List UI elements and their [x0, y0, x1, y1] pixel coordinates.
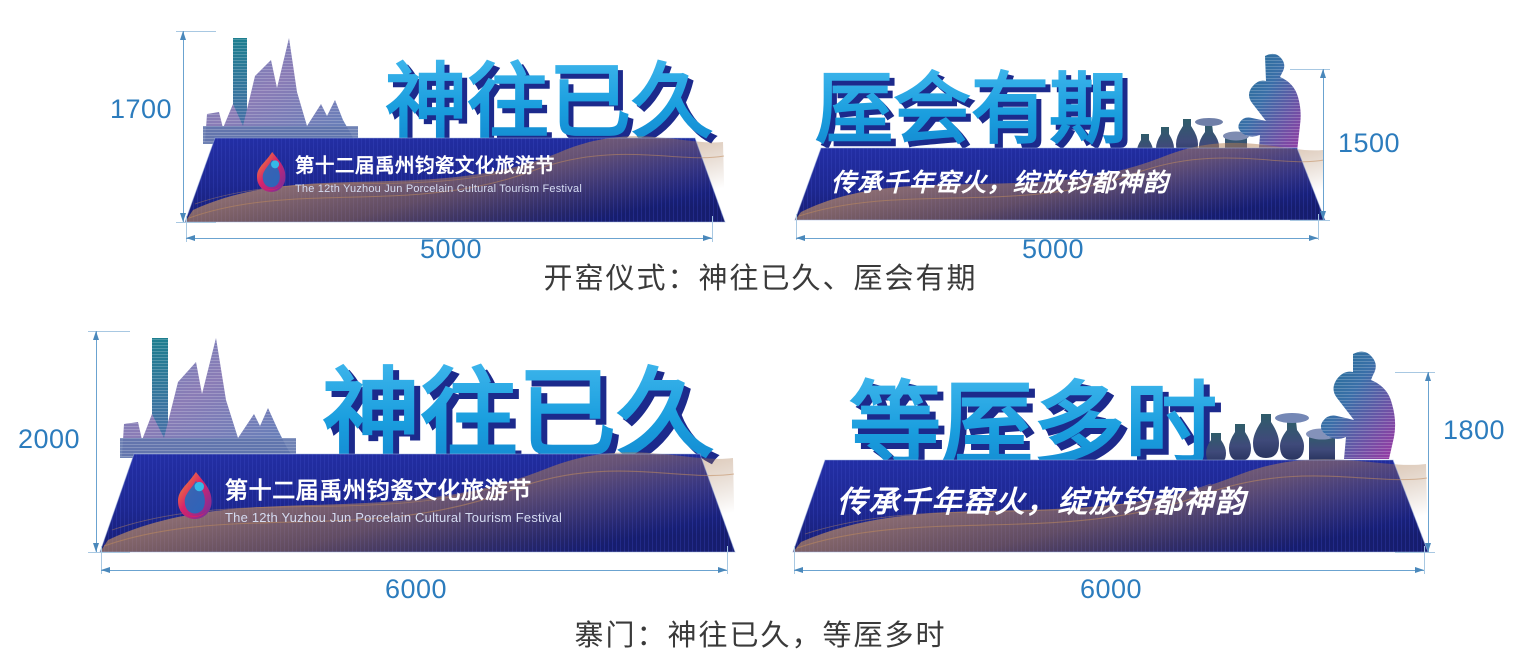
- panel-top-left: 神往已久 神往已久 第十二: [185, 30, 725, 225]
- dim-arrow-right-5000b: [1309, 235, 1318, 241]
- panel-bottom-left: 神往已久 神往已久 第十二届禹州钧瓷文化旅游节 The 12th Yuzhou …: [100, 330, 735, 555]
- dim-label-6000a: 6000: [385, 574, 447, 605]
- headline-face: 厔会有期: [815, 65, 1127, 155]
- band-slogan: 传承千年窑火，绽放钧都神韵: [831, 168, 1172, 197]
- dim-label-6000b: 6000: [1080, 574, 1142, 605]
- kiln-silhouette-icon: [203, 38, 358, 144]
- dim-label-1700: 1700: [110, 94, 172, 125]
- dim-label-1500: 1500: [1338, 128, 1400, 159]
- dim-arrow-right-6000b: [1415, 567, 1424, 573]
- band-title-cn: 第十二届禹州钧瓷文化旅游节: [295, 154, 555, 177]
- band-slogan: 传承千年窑火，绽放钧都神韵: [837, 485, 1249, 520]
- ext-line-right-5000b: [1318, 214, 1319, 240]
- dim-line-6000a: [101, 570, 727, 571]
- ext-line-bottom-1500: [1290, 220, 1330, 221]
- caption-row-open-kiln: 开窑仪式：神往已久、厔会有期: [0, 255, 1521, 297]
- dim-line-1700: [183, 31, 184, 222]
- ext-line-right-5000a: [712, 216, 713, 242]
- ext-line-bottom-1800: [1395, 552, 1435, 553]
- kiln-silhouette-icon: [120, 338, 296, 458]
- dim-arrow-left-5000a: [186, 235, 195, 241]
- dim-label-1800: 1800: [1443, 415, 1505, 446]
- dim-line-6000b: [794, 570, 1424, 571]
- ext-line-right-6000b: [1424, 546, 1425, 574]
- dim-arrow-up-1700: [180, 31, 186, 40]
- dim-line-1800: [1428, 372, 1429, 552]
- dim-arrow-down-1500: [1320, 211, 1326, 220]
- dim-line-2000: [96, 331, 97, 552]
- dim-arrow-up-1500: [1320, 69, 1326, 78]
- dim-label-2000: 2000: [18, 424, 80, 455]
- dim-arrow-up-1800: [1425, 372, 1431, 381]
- dim-arrow-up-2000: [93, 331, 99, 340]
- dim-arrow-down-2000: [93, 543, 99, 552]
- band-title-cn: 第十二届禹州钧瓷文化旅游节: [225, 477, 532, 504]
- headline-face: 神往已久: [385, 55, 713, 150]
- dim-arrow-left-6000a: [101, 567, 110, 573]
- dim-arrow-down-1800: [1425, 543, 1431, 552]
- band-title-en: The 12th Yuzhou Jun Porcelain Cultural T…: [225, 510, 562, 525]
- dim-line-1500: [1323, 69, 1324, 220]
- dim-arrow-right-5000a: [703, 235, 712, 241]
- dim-arrow-left-6000b: [794, 567, 803, 573]
- ext-line-bottom: [176, 222, 216, 223]
- drawing-canvas: 神往已久 神往已久 第十二: [0, 0, 1521, 654]
- band-title-en: The 12th Yuzhou Jun Porcelain Cultural T…: [295, 183, 582, 195]
- dim-arrow-right-6000a: [718, 567, 727, 573]
- vase-group: [1206, 413, 1338, 464]
- headline-top-right: 厔会有期 厔会有期: [815, 65, 1132, 160]
- caption-row-village-gate: 寨门：神往已久，等厔多时: [0, 612, 1521, 654]
- ext-line-bottom-2000: [88, 552, 130, 553]
- ext-line-right-6000a: [727, 546, 728, 574]
- potter-and-vases-icon: [1206, 352, 1395, 464]
- panel-top-right: 厔会有期 厔会有期: [795, 48, 1325, 223]
- panel-bottom-right: 等厔多时 等厔多时: [793, 352, 1428, 555]
- dim-arrow-left-5000b: [796, 235, 805, 241]
